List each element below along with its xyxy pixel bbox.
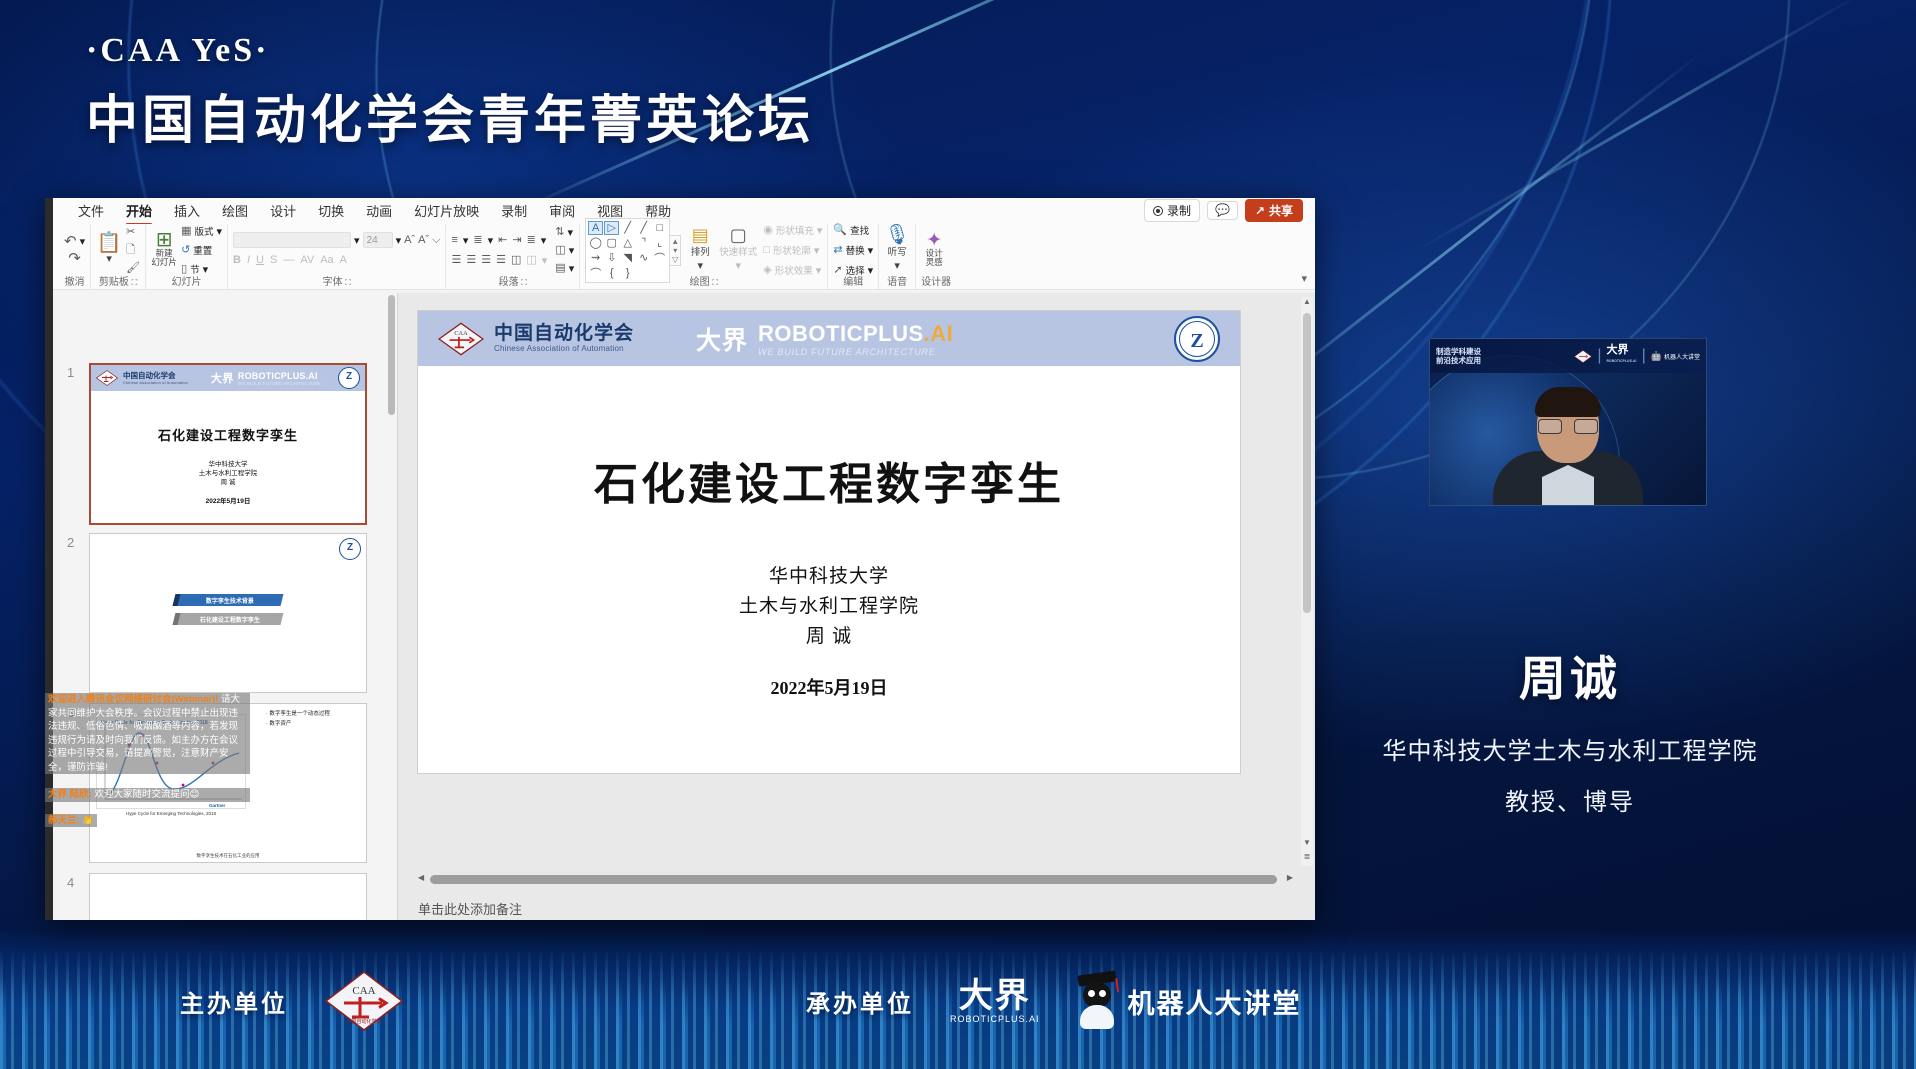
quick-styles-button[interactable]: ▢ 快速样式 ▾ [719,228,757,272]
change-case-icon[interactable]: Aa [320,253,333,268]
freeform-icon[interactable]: ◥ [620,251,635,265]
chevron-down-icon[interactable]: ▾ [814,244,820,257]
robot-icon: 🤖 [1651,351,1662,362]
group-label-voice: 语音 [884,277,910,288]
design-ideas-button[interactable]: ✦ 设计灵感 [921,233,947,267]
select-label[interactable]: 选择 [846,263,865,277]
shape-effects-icon[interactable]: ◈ [763,263,771,278]
search-icon[interactable]: 🔍 [833,223,847,238]
slide-partner-en: ROBOTICPLUS.AI [758,321,953,347]
thumbnail-brand-en: Chinese Association of Automation [123,380,188,385]
video-banner-line-1: 制造学科建设 [1436,347,1481,357]
shape-gallery[interactable]: A ▷ ╱ ╱ □ ◯ ▢ △ ⌝ ⌞ ⇝ ⇩ [585,218,670,283]
chevron-down-icon[interactable]: ▾ [868,244,874,257]
chat-message: 郝天兰: 👏 [45,814,97,828]
share-button[interactable]: ↗ 共享 [1245,199,1303,222]
ribbon-group-drawing: A ▷ ╱ ╱ □ ◯ ▢ △ ⌝ ⌞ ⇝ ⇩ [580,224,828,289]
record-button-label: 录制 [1167,202,1191,219]
shadow-icon[interactable]: S [270,253,277,268]
ribbon-group-undo: ↶▾ ↷ 撤消 [59,224,91,289]
dictate-label: 听写 [888,244,907,258]
font-color-icon[interactable]: A [340,253,347,268]
new-slide-label: 新建幻灯片 [151,249,177,267]
down-arrow-icon[interactable]: ⇩ [604,251,619,265]
justify-icon[interactable]: ☰ [496,253,506,268]
svg-text:CAA: CAA [454,329,468,336]
align-left-icon[interactable]: ☰ [451,253,461,268]
ribbon-group-clipboard: 📋 ▾ ✂ 🗋 🖌 剪贴板 ⛶ [91,224,146,289]
numbering-icon[interactable]: ≣ [473,233,482,248]
dialog-launcher-icon[interactable]: ⛶ [712,278,718,287]
cut-icon[interactable]: ✂ [126,225,140,240]
chat-message: 大界 陆欣: 欢迎大家随时交流提问😊 [45,788,250,802]
tab-home[interactable]: 开始 [115,199,163,222]
comments-button[interactable]: 💬 [1207,201,1238,220]
find-label[interactable]: 查找 [850,223,869,237]
chevron-down-icon: ▾ [106,252,112,265]
new-slide-icon: ⊞ [156,233,173,248]
slide-date: 2022年5月19日 [418,674,1240,700]
copy-icon[interactable]: 🗋 [126,243,140,258]
hust-logo-icon [338,367,360,389]
organizer-name-cn: 大界 [950,978,1040,1014]
host-label: 主办单位 [180,984,288,1019]
chevron-down-icon: ▾ [697,259,703,272]
chevron-down-icon[interactable]: ▾ [568,226,574,239]
chevron-down-icon[interactable]: ▾ [354,234,360,247]
arrow-shape-icon[interactable]: ▷ [604,221,619,235]
chevron-down-icon[interactable]: ▾ [488,234,494,247]
thumbnail-footer-note: 数字孪生技术在石化工业的应用 [90,853,366,859]
chevron-down-icon[interactable]: ▾ [463,234,469,247]
glasses-lens [1538,419,1562,434]
elbow-connector-icon[interactable]: ⌝ [636,236,651,250]
ribbon-group-paragraph: ≡▾ ≣▾ ⇤ ⇥ ≣▾ ☰ ☰ ☰ ☰ ◫ [446,224,580,289]
organizer-name-en: ROBOTICPLUS.AI [950,1014,1040,1024]
paste-button[interactable]: 📋 ▾ [96,236,122,265]
slide-partner-cn: 大界 [696,321,748,357]
chevron-down-icon[interactable]: ▾ [569,262,575,275]
thumbnail-title: 石化建设工程数字孪生 [91,425,365,444]
slide-horizontal-scrollbar[interactable]: ◀ ▶ [418,875,1281,884]
thumbnail-slide-2[interactable]: 数字孪生技术背景 石化建设工程数字孪生 [89,533,367,693]
shape-outline-icon[interactable]: □ [763,243,770,258]
line-spacing-icon[interactable]: ≣ [527,233,536,248]
collapse-ribbon-icon[interactable]: ▾ [1301,272,1307,285]
sponsor-row: 主办单位 CAA 中国自动化学会 承办单位 大界 ROBOTICPLUS.AI [0,963,1916,1039]
replace-label[interactable]: 替换 [846,243,865,257]
chat-message-author: 郝天兰: [48,815,80,826]
media-partner-logo: 机器人大讲堂 [1076,973,1302,1029]
organizer-logo: 大界 ROBOTICPLUS.AI [950,978,1040,1024]
thumbnail-band-1: 数字孪生技术背景 [173,594,284,606]
quick-styles-label: 快速样式 [719,244,757,258]
media-partner-name: 机器人大讲堂 [1128,982,1302,1021]
line-arrow-shape-icon[interactable]: ╱ [636,221,651,235]
video-banner-logos: | 大界 ROBOTICPLUS.AI | 🤖 机器人大讲堂 [1574,345,1700,367]
replace-icon[interactable]: ⇄ [833,243,842,258]
textbox-shape-icon[interactable]: A [588,221,603,235]
scrollbar-thumb[interactable] [1303,313,1311,613]
speaker-title: 教授、博导 [1330,782,1810,817]
scroll-up-icon[interactable]: ▲ [1301,297,1313,311]
section-label[interactable]: 节 [190,262,200,276]
slide-affiliation: 华中科技大学 土木与水利工程学院 周 诚 [418,562,1240,652]
section-icon: ▯ [181,262,187,277]
tab-design[interactable]: 设计 [259,199,307,222]
group-label-slides: 幻灯片 [151,277,222,288]
layout-icon: ▦ [181,224,191,239]
scrollbar-thumb[interactable] [430,875,1277,884]
more-shapes-icon[interactable]: ▽ [672,255,678,264]
chevron-down-icon[interactable]: ▾ [817,224,823,237]
webinar-stage: ·CAA YeS· 中国自动化学会青年菁英论坛 文件 开始 插入 绘图 设计 切… [0,0,1916,1069]
bold-icon[interactable]: B [233,253,241,268]
dialog-launcher-icon[interactable]: ⛶ [345,278,351,287]
chevron-down-icon: ▾ [894,259,900,272]
robot-icon [1076,973,1118,1029]
dialog-launcher-icon[interactable]: ⛶ [521,278,527,287]
video-media-partner: 🤖 机器人大讲堂 [1651,351,1700,362]
shape-outline-label[interactable]: 形状轮廓 [773,243,811,257]
group-label-drawing: 绘图 ⛶ [585,277,822,288]
italic-icon[interactable]: I [247,253,250,268]
comment-bubble-icon: 💬 [1215,203,1230,217]
chevron-down-icon[interactable]: ▾ [569,244,575,257]
thumbnail-partner-tag: WE BUILD FUTURE ARCHITECTURE [238,381,321,386]
share-icon: ↗ [1255,204,1265,218]
svg-text:中国自动化学会: 中国自动化学会 [346,1018,381,1025]
chat-message-text: 👏 [82,815,94,826]
tab-insert[interactable]: 插入 [163,199,211,222]
window-action-buttons: 录制 💬 ↗ 共享 [1144,199,1315,222]
chevron-down-icon[interactable]: ▾ [816,264,822,277]
chevron-down-icon[interactable]: ▾ [80,235,86,248]
select-icon[interactable]: ➚ [833,263,842,278]
scroll-down-icon[interactable]: ▼ [1301,838,1313,852]
chevron-down-icon[interactable]: ▾ [542,254,548,267]
record-icon [1153,206,1163,216]
thumbnail-band-2: 石化建设工程数字孪生 [173,613,284,625]
group-label-editing: 编辑 [833,277,873,288]
tab-review[interactable]: 审阅 [538,199,586,222]
robot-eye [1088,990,1095,997]
next-slide-icon[interactable]: ≣ [1301,852,1313,866]
shape-gallery-scrollbar[interactable]: ▲ ▾ ▽ [670,235,681,266]
undo-icon[interactable]: ↶ [64,234,77,249]
group-label-clipboard: 剪贴板 ⛶ [96,277,140,288]
reset-label[interactable]: 重置 [193,243,212,257]
sponsor-footer: 主办单位 CAA 中国自动化学会 承办单位 大界 ROBOTICPLUS.AI [0,929,1916,1069]
strikethrough-icon[interactable]: ― [283,253,294,268]
ribbon-group-editing: 🔍查找 ⇄替换▾ ➚选择▾ 编辑 [828,224,879,289]
align-center-icon[interactable]: ☰ [466,253,476,268]
curve-icon[interactable]: ⌒ [652,251,667,265]
arrange-button[interactable]: ▤ 排列 ▾ [687,228,713,272]
triangle-shape-icon[interactable]: △ [620,236,635,250]
robot-body [1080,1005,1114,1029]
chat-message-text: 欢迎大家随时交流提问😊 [94,789,199,800]
caa-logo-icon: CAA [438,322,484,356]
caa-logo-icon: CAA 中国自动化学会 [324,970,404,1032]
thumbnail-number: 2 [67,535,74,550]
organizer-label: 承办单位 [806,984,914,1019]
convert-to-smartart-icon[interactable]: ▤ [555,261,565,276]
chevron-down-icon[interactable]: ▾ [673,246,677,255]
video-banner-line-2: 前沿技术应用 [1436,356,1481,366]
align-text-icon[interactable]: ◫ [555,243,565,258]
chat-announcement-body: 请大家共同维护大会秩序。会议过程中禁止出现违法违规、低俗色情、吸烟酗酒等内容，若… [48,694,240,773]
slide-brand-en: Chinese Association of Automation [494,344,634,353]
speaker-glasses [1538,419,1598,434]
caa-logo-icon [96,370,118,386]
new-slide-button[interactable]: ⊞ 新建幻灯片 [151,233,177,267]
speaker-info: 周诚 华中科技大学土木与水利工程学院 教授、博导 [1330,640,1810,817]
bullets-icon[interactable]: ≡ [451,233,457,248]
decrease-font-size-icon[interactable]: Aˇ [418,233,429,248]
increase-font-size-icon[interactable]: Aˆ [404,233,415,248]
slide-brand-band: 中国自动化学会 Chinese Association of Automatio… [91,365,365,391]
slide-brand-cn: 中国自动化学会 [494,324,634,344]
chat-announcement: 欢迎进入腾讯会议网络研讨会(Webinar)! 请大家共同维护大会秩序。会议过程… [45,693,250,774]
group-label-font: 字体 ⛶ [233,277,440,288]
columns-icon[interactable]: ◫ [511,253,521,268]
chevron-down-icon[interactable]: ▾ [541,234,547,247]
ribbon-home: ↶▾ ↷ 撤消 📋 ▾ ✂ 🗋 🖌 [53,224,1315,290]
thumbnail-bullet: · 数字孪生是一个动态过程 [266,710,360,718]
thumbnail-bullet: · 数字资产 [266,720,360,728]
thumbnail-scrollbar[interactable] [388,295,395,415]
thumbnail-partner-cn: 大界 [211,370,234,386]
thumbnail-date: 2022年5月19日 [91,495,365,505]
speaker-name: 周诚 [1330,640,1810,709]
group-label-paragraph: 段落 ⛶ [451,277,574,288]
slide-brand-band: CAA 中国自动化学会 Chinese Association of Autom… [418,311,1240,366]
design-ideas-label: 设计灵感 [926,249,943,267]
group-label-undo: 撤消 [64,277,85,288]
chevron-down-icon[interactable]: ▾ [217,225,223,238]
group-label-designer: 设计器 [921,277,951,288]
dialog-launcher-icon[interactable]: ⛶ [132,278,138,287]
hust-logo-icon [1174,316,1220,362]
chat-overlay: 欢迎进入腾讯会议网络研讨会(Webinar)! 请大家共同维护大会秩序。会议过程… [45,693,250,827]
elbow-arrow-icon[interactable]: ⌞ [652,236,667,250]
speaker-avatar [1493,387,1643,505]
ribbon-group-voice: 🎙 听写 ▾ 语音 [879,224,916,289]
current-slide[interactable]: CAA 中国自动化学会 Chinese Association of Autom… [418,311,1240,773]
align-right-icon[interactable]: ☰ [481,253,491,268]
ribbon-container: 文件 开始 插入 绘图 设计 切换 动画 幻灯片放映 录制 审阅 视图 帮助 录… [53,198,1315,290]
speaker-affiliation: 华中科技大学土木与水利工程学院 [1330,731,1810,766]
shape-fill-label[interactable]: 形状填充 [776,223,814,237]
slide-editor-pane[interactable]: CAA 中国自动化学会 Chinese Association of Autom… [398,293,1315,920]
smartart-icon[interactable]: ◫ [526,253,536,268]
caa-yes-eyebrow: ·CAA YeS· [86,32,270,70]
tab-animations[interactable]: 动画 [355,199,403,222]
slide-partner-tagline: WE BUILD FUTURE ARCHITECTURE [758,347,953,357]
speaker-video-tile[interactable]: 制造学科建设 前沿技术应用 | 大界 ROBOTICPLUS.AI | 🤖 机器… [1429,338,1707,506]
chat-announcement-title: 欢迎进入腾讯会议网络研讨会(Webinar)! [48,694,218,705]
thumbnail-slide-1[interactable]: 中国自动化学会 Chinese Association of Automatio… [89,363,367,525]
svg-text:CAA: CAA [352,985,375,997]
ribbon-tabs: 文件 开始 插入 绘图 设计 切换 动画 幻灯片放映 录制 审阅 视图 帮助 录… [53,198,1315,224]
font-size-input[interactable]: 24 [363,232,393,248]
record-button[interactable]: 录制 [1144,199,1200,222]
glasses-lens [1574,419,1598,434]
chevron-down-icon: ▾ [735,259,741,272]
arrange-label: 排列 [691,244,710,258]
scroll-up-icon[interactable]: ▲ [671,237,679,246]
thumbnail-subtitle: 华中科技大学 土木与水利工程学院 周 诚 [91,460,365,487]
format-painter-icon[interactable]: 🖌 [126,261,140,276]
dictate-button[interactable]: 🎙 听写 ▾ [884,228,910,272]
caa-logo-icon [1574,350,1592,363]
scribble-icon[interactable]: ∿ [636,251,651,265]
tab-slideshow[interactable]: 幻灯片放映 [403,199,490,222]
robot-eye [1099,990,1106,997]
chevron-down-icon[interactable]: ▾ [868,264,874,277]
arrange-icon: ▤ [692,228,709,243]
chat-message-author: 大界 陆欣: [48,789,92,800]
line-shape-icon[interactable]: ╱ [620,221,635,235]
block-arrow-icon[interactable]: ⇝ [588,251,603,265]
slide-title: 石化建设工程数字孪生 [418,448,1240,512]
increase-indent-icon[interactable]: ⇥ [512,233,521,248]
font-name-input[interactable] [233,232,351,248]
shape-effects-label[interactable]: 形状效果 [775,263,813,277]
thumbnail-slide-4[interactable] [89,873,367,920]
layout-label[interactable]: 版式 [194,224,213,238]
video-overlay-banner: 制造学科建设 前沿技术应用 | 大界 ROBOTICPLUS.AI | 🤖 机器… [1430,339,1706,373]
design-ideas-icon: ✦ [926,233,942,248]
underline-icon[interactable]: U [256,253,264,268]
ribbon-group-font: ▾ 24 ▾ Aˆ Aˇ ⌵ B I U S [228,224,446,289]
decrease-indent-icon[interactable]: ⇤ [498,233,507,248]
rectangle-shape-icon[interactable]: □ [652,221,667,235]
rounded-rect-shape-icon[interactable]: ▢ [604,236,619,250]
scroll-right-icon[interactable]: ▶ [1287,873,1293,882]
microphone-icon: 🎙 [884,228,909,243]
ribbon-group-slides: ⊞ 新建幻灯片 ▦版式▾ ↺重置 ▯节▾ 幻灯片 [146,224,228,289]
chevron-down-icon[interactable]: ▾ [203,263,209,276]
chevron-down-icon[interactable]: ▾ [396,234,402,247]
clipboard-icon: 📋 [97,236,122,251]
tab-transitions[interactable]: 切换 [307,199,355,222]
tab-draw[interactable]: 绘图 [211,199,259,222]
speaker-hair [1535,387,1601,417]
page-header: ·CAA YeS· 中国自动化学会青年菁英论坛 [0,0,1916,160]
hust-logo-icon [339,538,361,560]
page-title: 中国自动化学会青年菁英论坛 [86,78,814,153]
thumbnail-partner-en: ROBOTICPLUS.AI [238,371,321,381]
reset-icon: ↺ [181,243,190,258]
tab-file[interactable]: 文件 [67,199,115,222]
notes-placeholder[interactable]: 单击此处添加备注 [418,899,522,918]
shape-fill-icon[interactable]: ◉ [763,223,773,238]
quick-styles-icon: ▢ [730,228,747,243]
thumbnail-number: 1 [67,365,74,380]
video-partner-logo: 大界 ROBOTICPLUS.AI [1607,345,1637,367]
scroll-left-icon[interactable]: ◀ [418,873,424,882]
slide-vertical-scrollbar[interactable]: ▲ ▼ ≣ [1301,297,1313,866]
share-button-label: 共享 [1269,202,1293,219]
oval-shape-icon[interactable]: ◯ [588,236,603,250]
character-spacing-icon[interactable]: AV [300,253,314,268]
tab-record[interactable]: 录制 [490,199,538,222]
ribbon-group-designer: ✦ 设计灵感 设计器 [916,224,956,289]
clear-formatting-icon[interactable]: ⌵ [432,233,440,248]
thumbnail-number: 4 [67,875,74,890]
thumbnail-brand-cn: 中国自动化学会 [123,372,188,380]
redo-icon[interactable]: ↷ [68,251,81,266]
text-direction-icon[interactable]: ⇅ [555,225,564,240]
